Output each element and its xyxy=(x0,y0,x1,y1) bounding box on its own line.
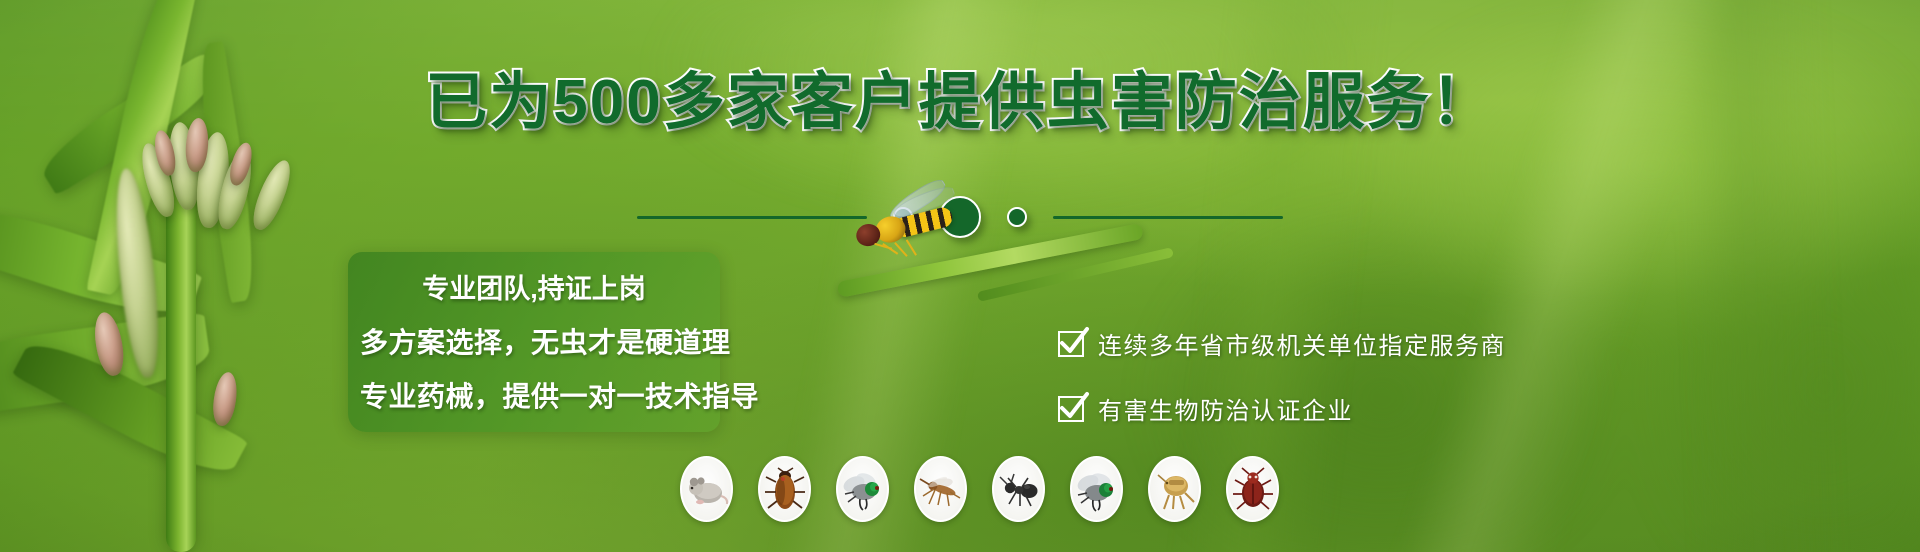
feature-item: 连续多年省市级机关单位指定服务商 xyxy=(1058,326,1506,361)
blowfly-icon[interactable] xyxy=(836,456,889,522)
mosquito-icon[interactable] xyxy=(914,456,967,522)
headline: 已为500多家客户提供虫害防治服务！ xyxy=(0,72,1920,134)
slogan-line-1: 专业团队,持证上岗 xyxy=(360,276,708,303)
mouse-icon[interactable] xyxy=(680,456,733,522)
hoverfly-leg xyxy=(906,239,917,255)
housefly-icon[interactable] xyxy=(1070,456,1123,522)
slogan-line-2: 多方案选择，无虫才是硬道理 xyxy=(360,329,708,357)
pest-icon-row xyxy=(680,456,1279,522)
feature-label: 有害生物防治认证企业 xyxy=(1098,391,1353,426)
plant-bud-pink xyxy=(210,371,239,428)
feature-label: 连续多年省市级机关单位指定服务商 xyxy=(1098,326,1506,361)
feature-list: 连续多年省市级机关单位指定服务商 有害生物防治认证企业 xyxy=(1058,326,1506,456)
slogan-line-3: 专业药械，提供一对一技术指导 xyxy=(360,383,708,411)
ant-icon[interactable] xyxy=(992,456,1045,522)
bedbug-icon[interactable] xyxy=(1226,456,1279,522)
hoverfly-illustration xyxy=(828,196,1158,326)
checkbox-check-icon xyxy=(1058,396,1084,422)
hoverfly-icon xyxy=(841,190,961,271)
cockroach-icon[interactable] xyxy=(758,456,811,522)
slogan-panel: 专业团队,持证上岗 多方案选择，无虫才是硬道理 专业药械，提供一对一技术指导 xyxy=(348,252,720,432)
checkbox-check-icon xyxy=(1058,331,1084,357)
flea-icon[interactable] xyxy=(1148,456,1201,522)
promo-banner: 已为500多家客户提供虫害防治服务！ 专业团队,持证上岗 多方案选择，无虫才是硬… xyxy=(0,0,1920,552)
feature-item: 有害生物防治认证企业 xyxy=(1058,391,1506,426)
headline-text: 已为500多家客户提供虫害防治服务！ xyxy=(425,72,1494,134)
